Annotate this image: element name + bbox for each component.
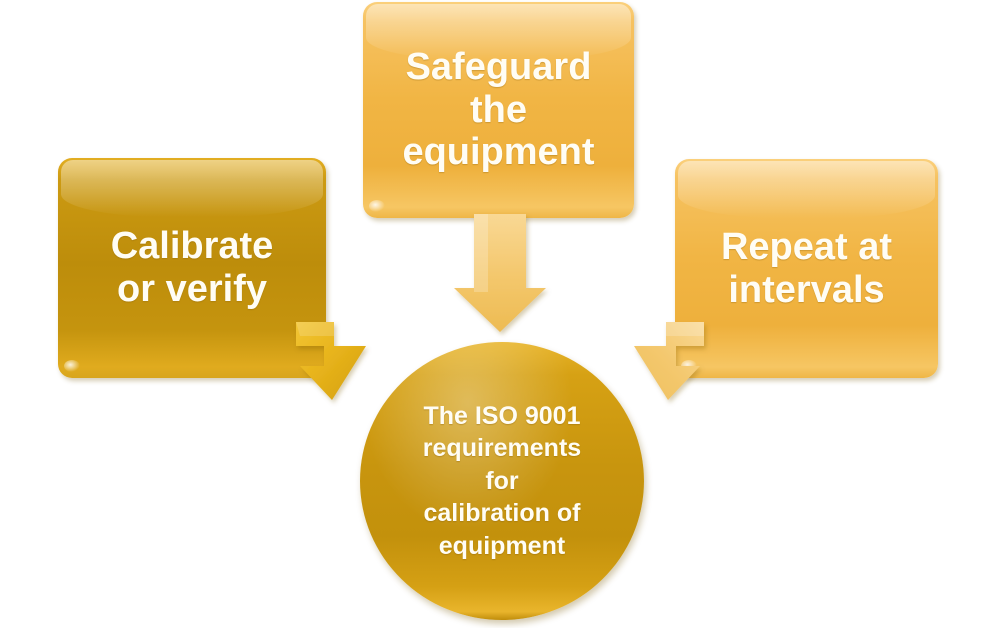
node-label-calibrate-or-verify: Calibrate or verify xyxy=(103,225,282,310)
node-box-repeat-at-intervals[interactable]: Repeat at intervals xyxy=(675,159,938,378)
arrow-safeguard-to-core xyxy=(454,214,546,332)
node-circle-iso-9001-core[interactable]: The ISO 9001 requirements for calibratio… xyxy=(360,342,644,620)
node-box-calibrate-or-verify[interactable]: Calibrate or verify xyxy=(58,158,326,378)
node-label-repeat-at-intervals: Repeat at intervals xyxy=(713,226,900,311)
node-label-safeguard-the-equipment: Safeguard the equipment xyxy=(394,46,602,174)
node-box-safeguard-the-equipment[interactable]: Safeguard the equipment xyxy=(363,2,634,218)
node-label-iso-9001-core: The ISO 9001 requirements for calibratio… xyxy=(409,400,595,563)
diagram-canvas: Calibrate or verify Safeguard the equipm… xyxy=(0,0,1000,628)
